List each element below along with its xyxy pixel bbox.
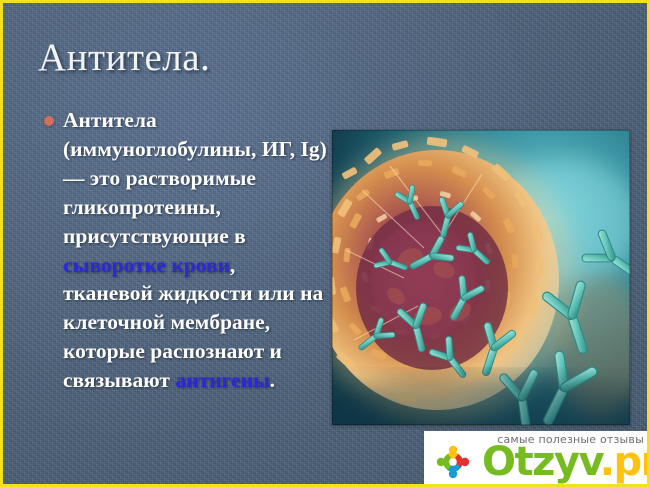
slide-image-antibodies (332, 130, 630, 425)
bullet-point-icon (44, 116, 54, 126)
watermark-otzyv-pro: самые полезные отзывы Otzyv.pro (424, 431, 650, 487)
body-segment-1: Антитела (иммуноглобулины, ИГ, Ig) — это… (63, 108, 327, 248)
page-title: Антитела. (38, 38, 210, 79)
presentation-slide: Антитела. Антитела (иммуноглобулины, ИГ,… (0, 0, 650, 487)
watermark-brand: Otzyv.pro (482, 440, 650, 484)
body-segment-highlight-antigens: антигены (175, 368, 269, 392)
body-segment-highlight-serum: сыворотке крови (63, 253, 230, 277)
body-segment-3: . (270, 368, 275, 392)
people-cluster-logo-icon (429, 441, 477, 483)
antibody-cell-illustration (332, 130, 630, 425)
watermark-brand-yellow: .pro (600, 439, 650, 485)
bullet-list-item: Антитела (иммуноглобулины, ИГ, Ig) — это… (44, 106, 329, 395)
watermark-brand-green: Otzyv (482, 439, 600, 485)
bullet-text: Антитела (иммуноглобулины, ИГ, Ig) — это… (63, 106, 329, 395)
